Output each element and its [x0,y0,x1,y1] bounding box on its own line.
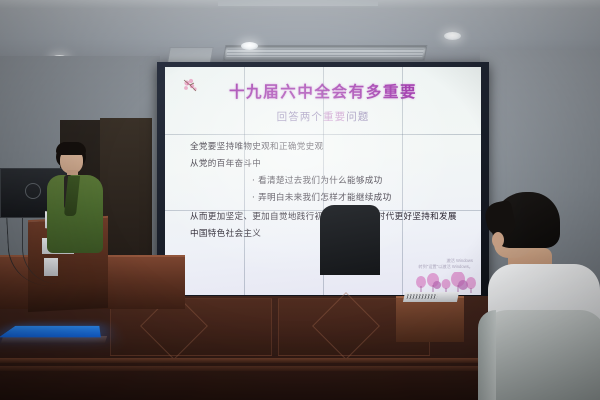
open-laptop-screen[interactable] [0,326,101,338]
slide-subtitle-highlight: 重要 [323,111,346,123]
panel-seam [244,67,245,295]
slide-bullet: · 看清楚过去我们为什么能够成功 [252,173,473,190]
panel-seam [165,134,481,135]
pink-trees-decoration-icon [413,272,479,294]
monitor-logo-icon [25,183,41,199]
ceiling-recess [218,0,378,6]
chair-backrest-edge [478,310,496,400]
chair-backrest [478,310,600,400]
side-shelf [396,296,464,342]
watermark-line-2: 转到"设置"以激活 Windows。 [418,264,473,269]
windows-activation-watermark: 激活 Windows 转到"设置"以激活 Windows。 [418,258,473,269]
seated-attendee [478,192,600,400]
downlight-icon [241,42,258,50]
panel-seam [402,67,403,295]
shelf-papers [403,292,459,302]
slide-body-line: 全党要坚持唯物史观和正确党史观 [190,139,473,156]
slide-body-line: 从党的百年奋斗中 [190,156,473,173]
presenter [42,142,108,262]
conference-room-scene: 十九届六中全会有多重要 回答两个重要问题 全党要坚持唯物史观和正确党史观 从党的… [0,0,600,400]
office-chair [320,205,380,275]
slide-subtitle-part-b: 问题 [346,111,369,123]
attendee-ear [492,232,504,248]
slide-subtitle-part-a: 回答两个 [277,111,323,123]
presenter-hair-front [56,142,86,155]
downlight-icon [444,32,461,40]
